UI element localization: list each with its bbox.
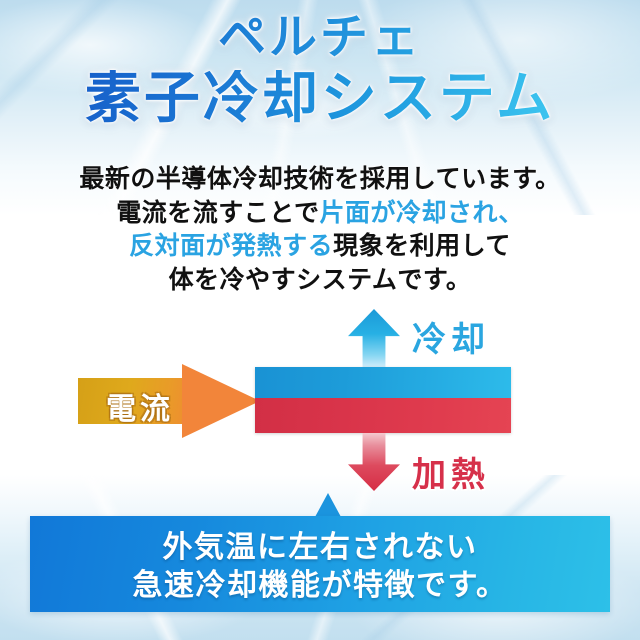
infographic-page: ペルチェ 素子冷却システム 最新の半導体冷却技術を採用しています。 電流を流すこ… <box>0 0 640 640</box>
current-arrow-icon: 電流 <box>78 364 260 438</box>
peltier-cold-side <box>255 367 511 398</box>
cooling-label: 冷却 <box>412 312 490 361</box>
description-line-3-highlight: 反対面が発熱する <box>129 232 333 260</box>
heating-down-arrow-icon <box>348 433 400 491</box>
description-text: 最新の半導体冷却技術を採用しています。 電流を流すことで片面が冷却され、 反対面… <box>0 163 640 297</box>
current-arrow-head <box>182 364 260 438</box>
description-line-4: 体を冷やすシステムです。 <box>0 264 640 298</box>
feature-banner-line-1: 外気温に左右されない <box>30 529 610 567</box>
description-line-1: 最新の半導体冷却技術を採用しています。 <box>0 163 640 197</box>
page-title: ペルチェ 素子冷却システム <box>0 14 640 126</box>
description-line-3-plain: 現象を利用して <box>333 232 511 260</box>
peltier-element-bar <box>255 367 511 433</box>
description-line-3: 反対面が発熱する現象を利用して <box>0 230 640 264</box>
feature-banner: 外気温に左右されない 急速冷却機能が特徴です。 <box>30 516 610 612</box>
description-line-2: 電流を流すことで片面が冷却され、 <box>0 197 640 231</box>
title-line-peltier: ペルチェ <box>0 14 640 62</box>
banner-pointer-icon <box>315 493 341 517</box>
description-line-2-plain: 電流を流すことで <box>116 199 319 227</box>
cooling-up-arrow-icon <box>348 309 400 368</box>
peltier-hot-side <box>255 398 511 433</box>
description-line-2-highlight: 片面が冷却され、 <box>320 199 524 227</box>
title-line-cooling-system: 素子冷却システム <box>0 70 640 126</box>
current-label: 電流 <box>94 384 186 428</box>
feature-banner-line-2: 急速冷却機能が特徴です。 <box>30 567 610 605</box>
feature-banner-text: 外気温に左右されない 急速冷却機能が特徴です。 <box>30 529 610 606</box>
heating-label: 加熱 <box>412 447 490 496</box>
